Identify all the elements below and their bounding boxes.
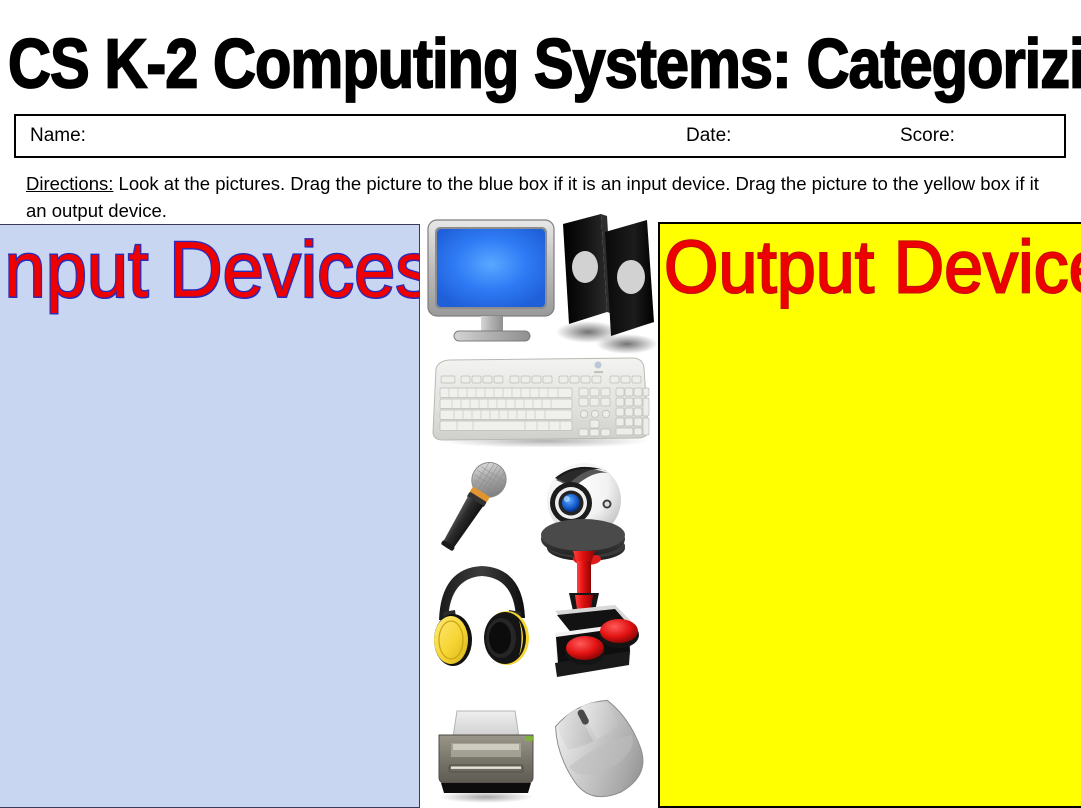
keyboard-image[interactable]	[427, 355, 653, 447]
mouse-image[interactable]	[541, 695, 659, 805]
monitor-image[interactable]	[426, 218, 556, 350]
worksheet-page: CS K-2 Computing Systems: Categorizing H…	[0, 0, 1081, 808]
name-field-label[interactable]: Name:	[30, 125, 86, 147]
printer-image[interactable]	[429, 705, 543, 803]
microphone-image[interactable]	[429, 455, 515, 560]
joystick-image[interactable]	[529, 515, 651, 683]
headphones-image[interactable]	[427, 552, 537, 667]
device-picture-column	[421, 210, 658, 808]
speakers-image[interactable]	[555, 210, 658, 355]
page-title: CS K-2 Computing Systems: Categorizing H…	[8, 26, 1030, 109]
input-devices-dropzone[interactable]: Input Devices	[0, 224, 420, 808]
student-info-bar: Name: Date: Score:	[14, 114, 1066, 158]
date-field-label[interactable]: Date:	[686, 125, 731, 147]
output-devices-heading: Output Devices	[664, 230, 1081, 304]
output-devices-dropzone[interactable]: Output Devices	[658, 222, 1081, 808]
input-devices-heading: Input Devices	[0, 231, 420, 309]
score-field-label[interactable]: Score:	[900, 125, 955, 147]
directions-label: Directions:	[26, 173, 113, 194]
